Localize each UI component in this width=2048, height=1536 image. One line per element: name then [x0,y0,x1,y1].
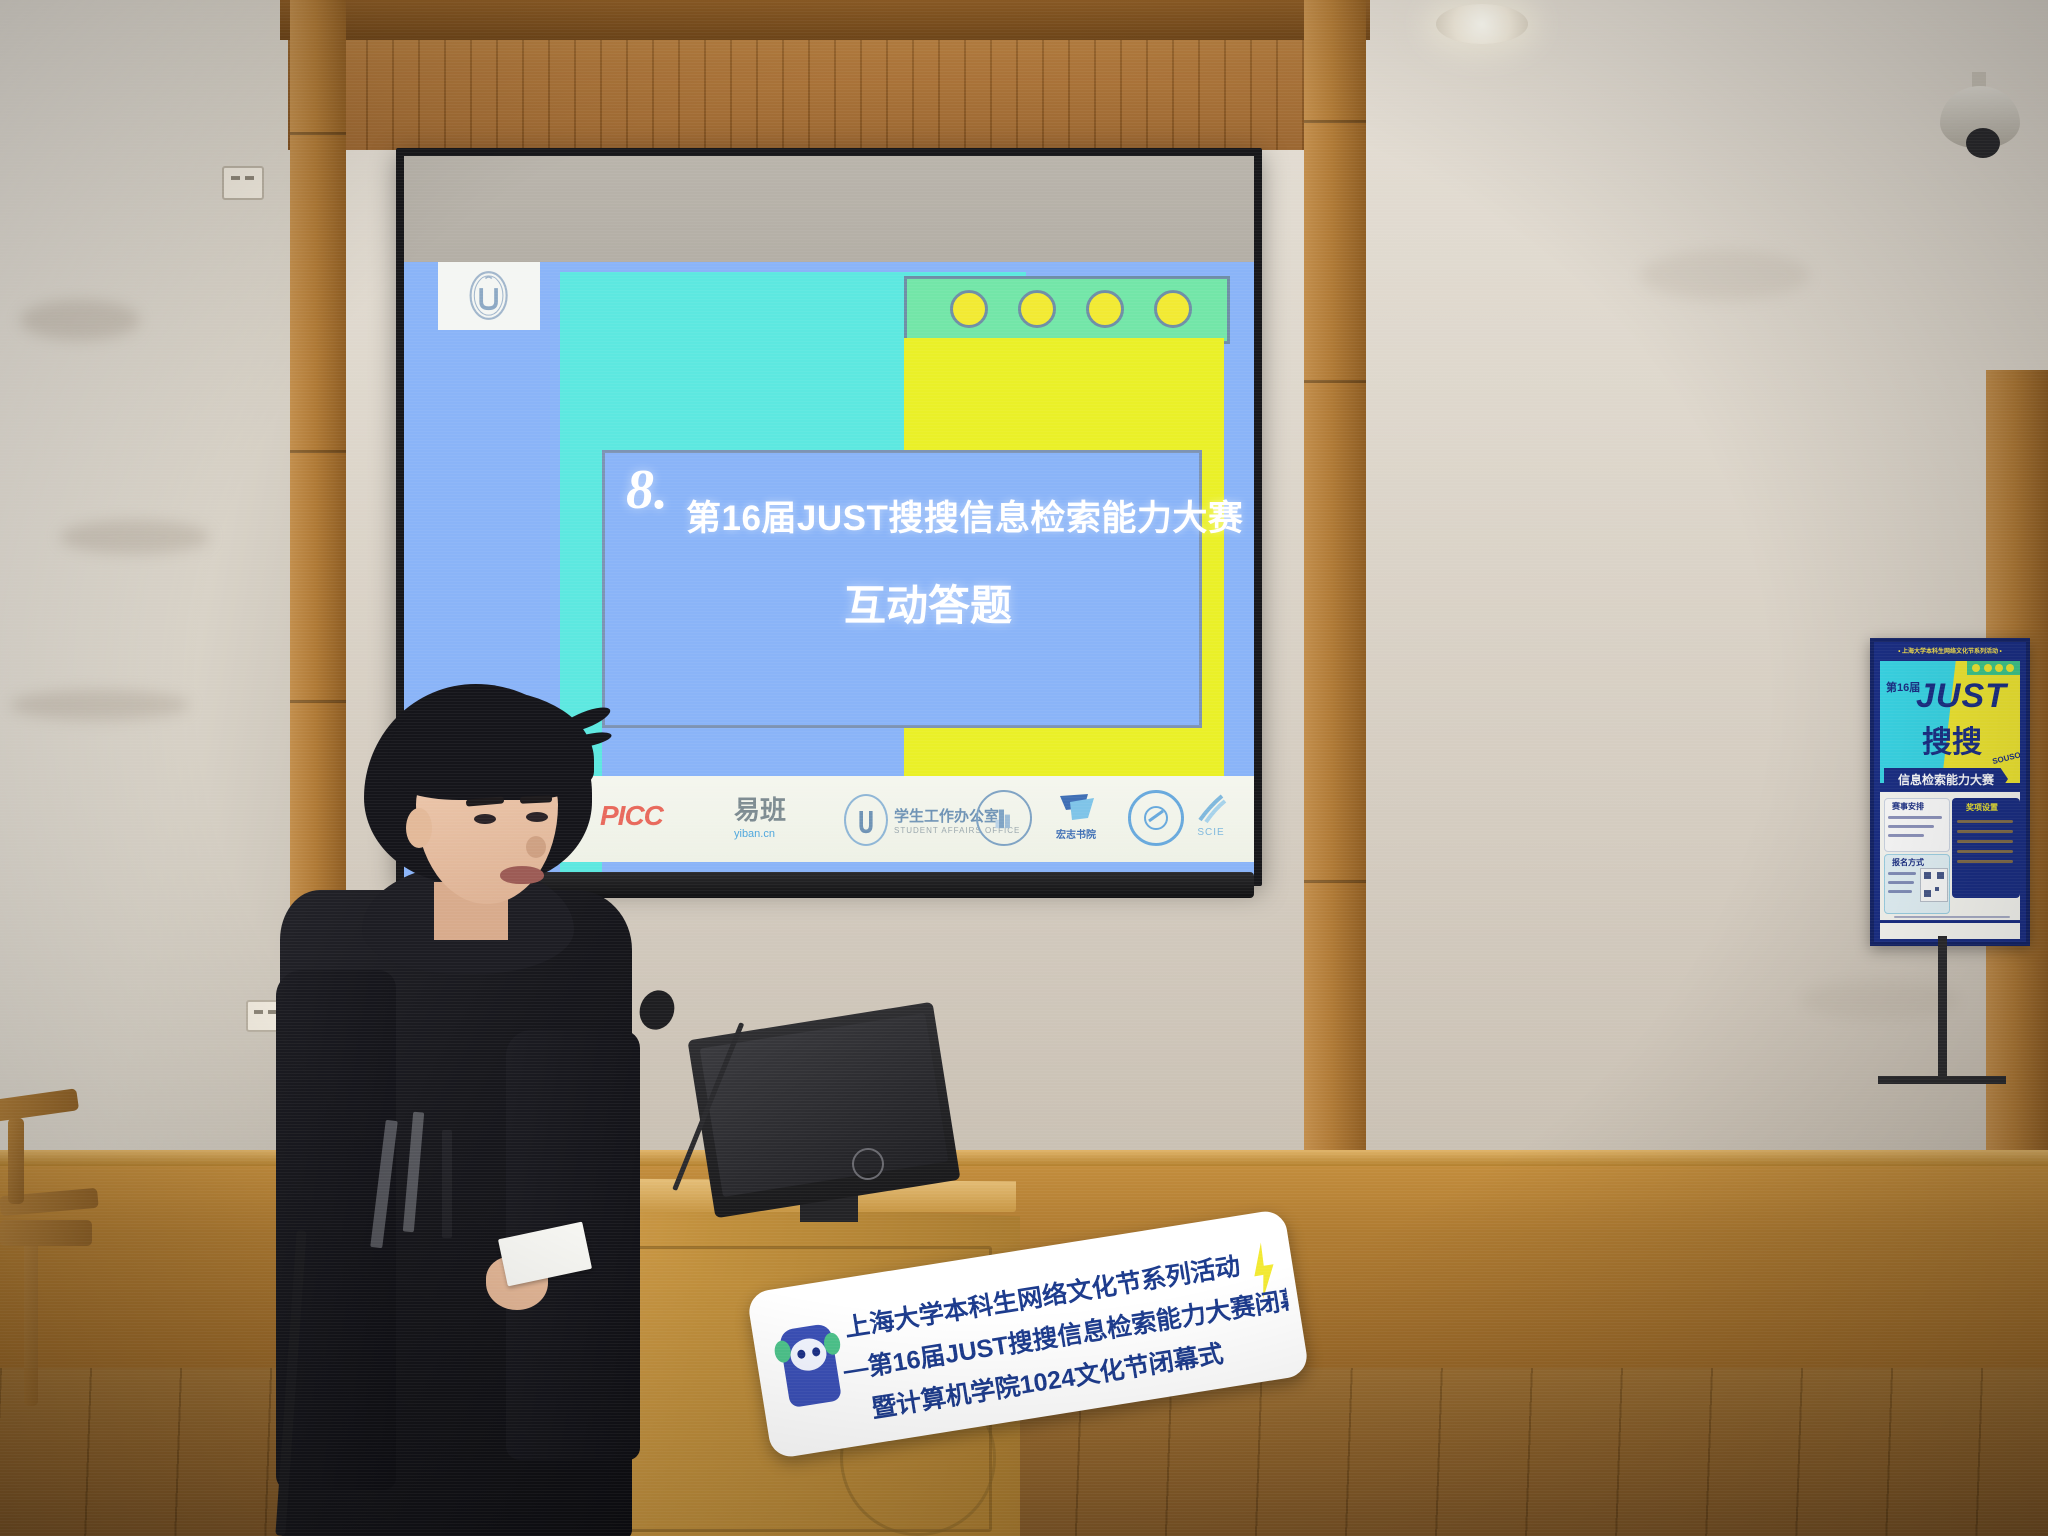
wall-power-outlet[interactable] [222,166,264,200]
ceiling-beam [280,0,1370,40]
shanghai-university-emblem [438,262,540,330]
wooden-chair-leg [24,1236,38,1406]
poster-text-line [1888,816,1942,819]
sponsor-logo-computer-college [1128,790,1184,846]
university-seal-icon [976,790,1032,846]
slide-window-dot [950,290,988,328]
wall-stain [60,520,210,554]
presenter-mouth [500,866,544,884]
right-wood-column [1304,0,1366,1190]
wooden-chair-arm [8,1118,24,1204]
computer-college-seal-icon [1128,790,1184,846]
event-poster: • 上海大学本科生网络文化节系列活动 • 第16届 JUST 搜搜 SOUSOU… [1870,638,2030,946]
scie-mark-icon [1194,792,1228,826]
poster-easel-stand [1938,936,1947,1082]
column-seam [290,450,346,453]
camera-lens-icon [1966,128,2000,158]
yiban-url: yiban.cn [734,828,775,840]
poster-ribbon: 信息检索能力大赛 [1884,768,2008,790]
recessed-ceiling-light [1436,4,1528,44]
poster-dot [1995,664,2003,672]
poster-heading-schedule: 赛事安排 [1892,801,1924,812]
column-seam [290,132,346,135]
mascot-ear [773,1339,792,1363]
poster-text-line [1888,881,1914,884]
poster-text-line [1957,820,2013,823]
poster-qr-code [1920,868,1948,902]
poster-card-awards [1952,798,2020,898]
student-affairs-emblem-icon [844,794,888,846]
presenter-eye [526,812,548,822]
hoodie-graphic [442,1130,452,1238]
student-presenter [270,700,730,1536]
poster-footer-logos [1880,923,2020,939]
slide-window-dot [1086,290,1124,328]
poster-dot [1984,664,1992,672]
poster-text-line [1957,840,2013,843]
mascot-face [788,1336,829,1373]
wall-stain [10,690,190,720]
slide-window-dot [1154,290,1192,328]
sponsor-logo-shanghai-university-seal [976,790,1032,846]
poster-top-strip: • 上海大学本科生网络文化节系列活动 • [1880,646,2020,659]
sponsor-logo-yiban: 易班 yiban.cn [734,790,786,840]
scie-wordmark: SCIE [1197,827,1224,838]
column-seam [1304,880,1366,883]
poster-text-line [1957,830,2013,833]
wall-stain [1800,980,1960,1020]
presenter-eye [474,814,496,824]
honghe-mark-icon [1054,788,1098,826]
poster-heading-awards: 奖项设置 [1966,802,1998,813]
slide-window-dot [1018,290,1056,328]
screen-blank-area [404,156,1254,274]
just-sousou-mascot [778,1323,842,1408]
sponsor-logo-honghe-academy: 宏志书院 [1054,788,1098,841]
wall-stain [20,300,140,340]
poster-text-line [1957,860,2013,863]
poster-heading-signup: 报名方式 [1892,857,1924,868]
poster-footnote-line [1894,916,2010,918]
presenter-ear [406,808,432,848]
wall-stain [1640,250,1810,300]
poster-brand-cn: 搜搜 [1922,717,1982,761]
poster-text-line [1888,872,1916,875]
slide-number-marker: 8. [626,458,668,522]
poster-text-line [1888,834,1924,837]
poster-brand-en: JUST [1916,677,2007,716]
slide-subtitle: 互动答题 [844,572,1012,633]
photo-scene: 8. 第16届JUST搜搜信息检索能力大赛 互动答题 PICC 易班 yiban… [0,0,2048,1536]
poster-text-line [1888,825,1934,828]
sponsor-logo-scie: SCIE [1194,792,1228,838]
wooden-chair-seat [0,1220,92,1246]
poster-dot [2006,664,2014,672]
column-seam [1304,380,1366,383]
column-seam [1304,120,1366,123]
yiban-wordmark: 易班 [734,790,786,827]
honghe-wordmark: 宏志书院 [1056,826,1096,841]
poster-text-line [1888,890,1912,893]
poster-easel-foot [1878,1076,2006,1084]
presenter-nose [526,836,546,858]
poster-body: 赛事安排 奖项设置 报名方式 [1880,792,2020,920]
poster-text-line [1957,850,2013,853]
slide-title: 第16届JUST搜搜信息检索能力大赛 [686,490,1243,541]
poster-hero: 第16届 JUST 搜搜 SOUSOU [1880,661,2020,783]
